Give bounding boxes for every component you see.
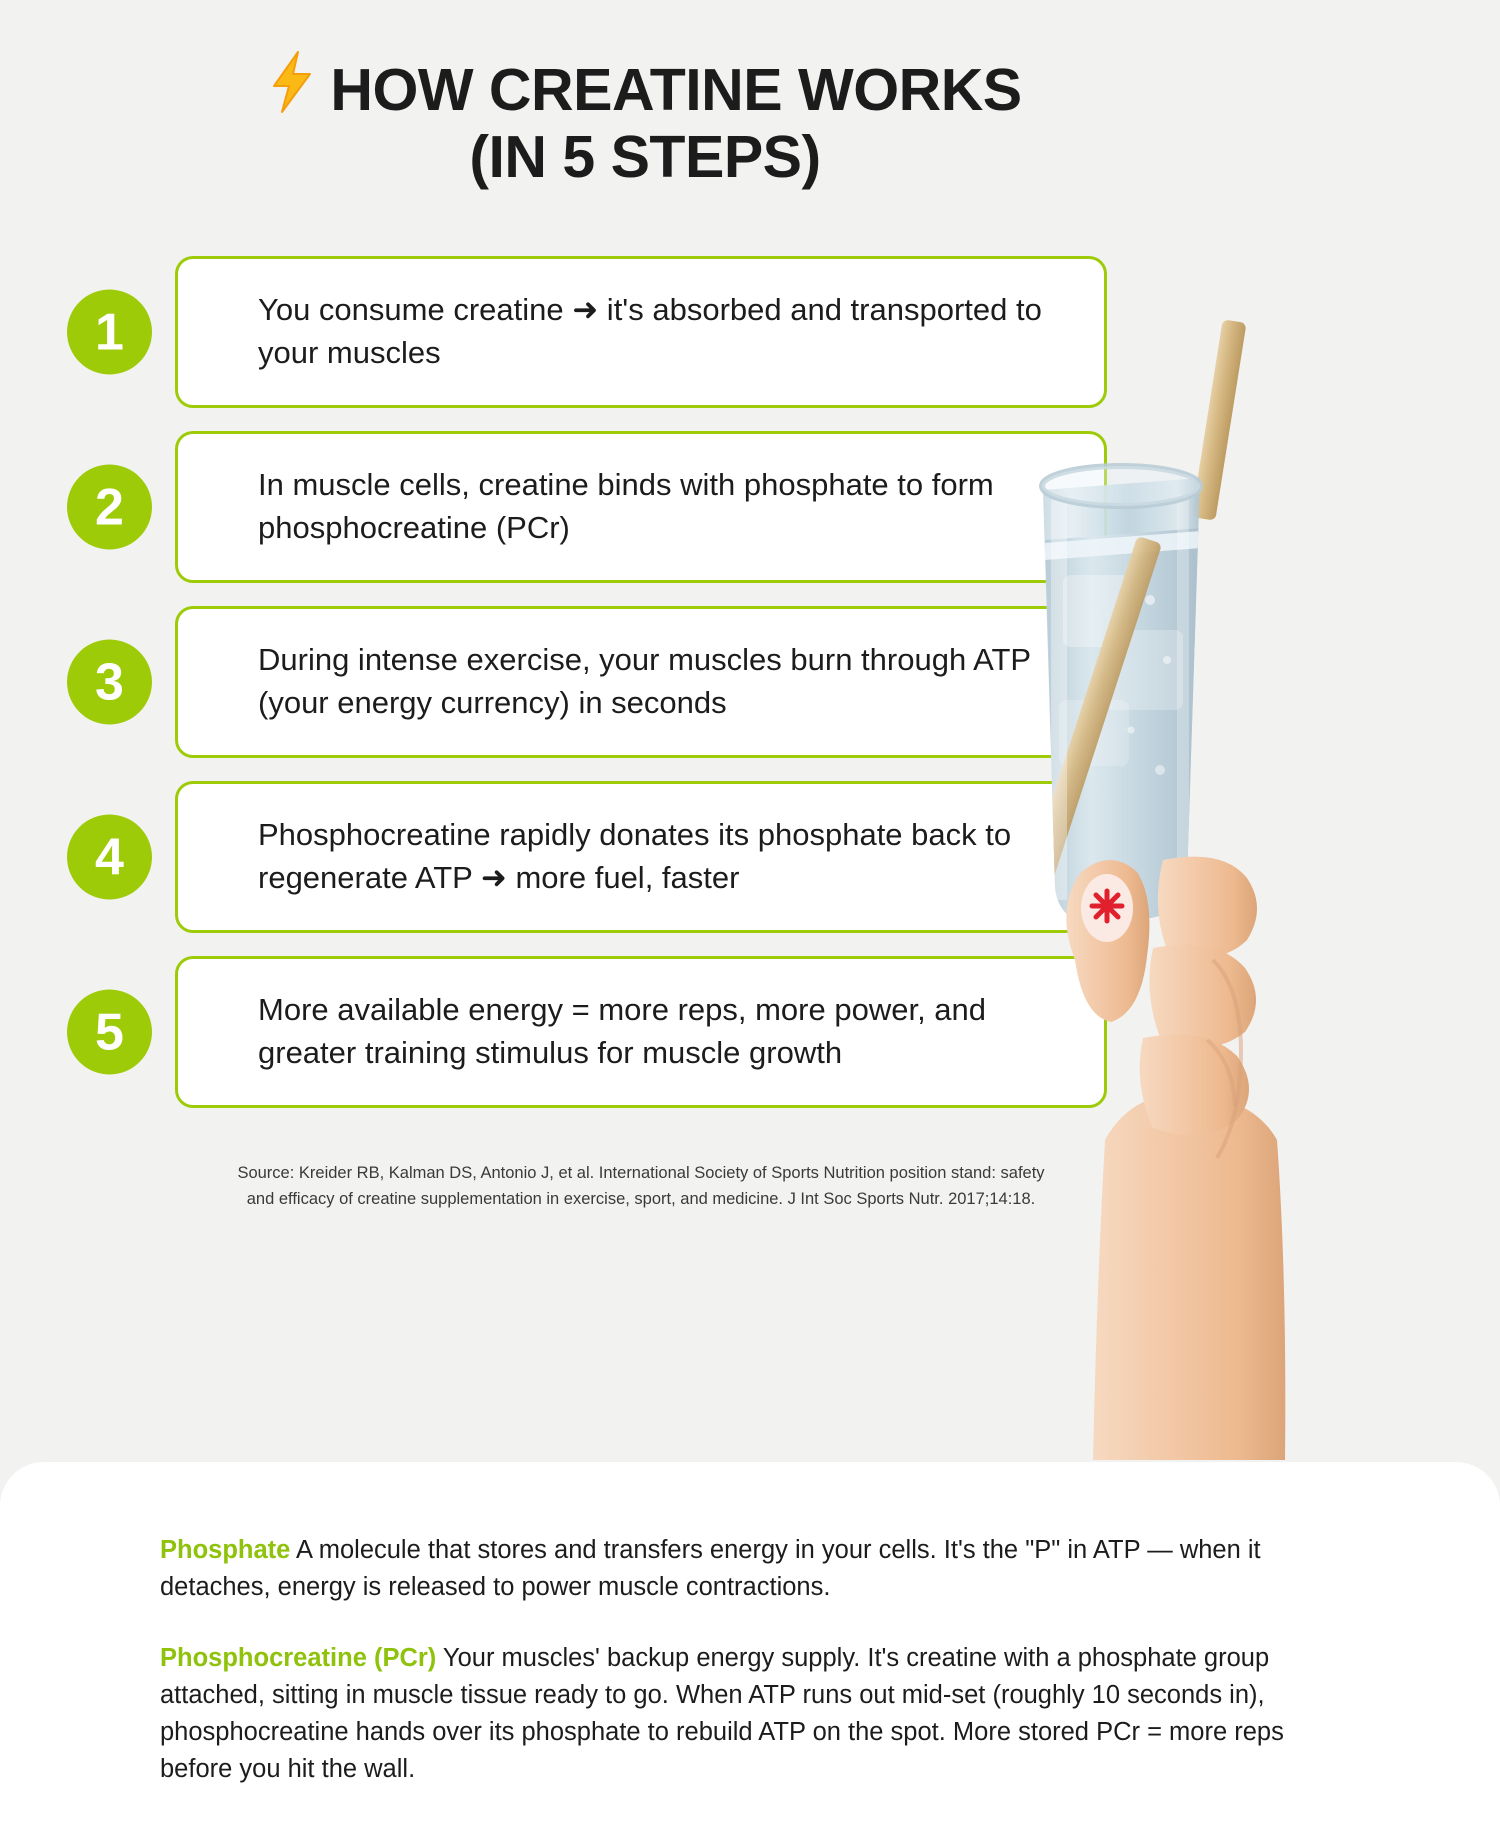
step-text: You consume creatine ➜ it's absorbed and… (178, 289, 1104, 375)
step-number-badge: 1 (67, 290, 152, 375)
source-citation: Source: Kreider RB, Kalman DS, Antonio J… (175, 1161, 1107, 1212)
step-text: During intense exercise, your muscles bu… (178, 639, 1104, 725)
infographic-page: HOW CREATINE WORKS (IN 5 STEPS) 1 You co… (0, 0, 1500, 1828)
step-card: 2 In muscle cells, creatine binds with p… (175, 431, 1107, 583)
step-number-badge: 2 (67, 465, 152, 550)
step-text: In muscle cells, creatine binds with pho… (178, 464, 1104, 550)
glossary-entry: Phosphocreatine (PCr) Your muscles' back… (160, 1640, 1340, 1788)
glossary-definition: A molecule that stores and transfers ene… (160, 1536, 1261, 1601)
step-card: 5 More available energy = more reps, mor… (175, 956, 1107, 1108)
page-title: HOW CREATINE WORKS (IN 5 STEPS) (0, 50, 1290, 188)
step-text: More available energy = more reps, more … (178, 989, 1104, 1075)
source-line-1: Source: Kreider RB, Kalman DS, Antonio J… (175, 1161, 1107, 1187)
source-line-2: and efficacy of creatine supplementation… (175, 1187, 1107, 1213)
glossary-panel: Phosphate A molecule that stores and tra… (0, 1462, 1500, 1828)
glossary-entry: Phosphate A molecule that stores and tra… (160, 1532, 1340, 1606)
step-card: 1 You consume creatine ➜ it's absorbed a… (175, 256, 1107, 408)
title-text-2: (IN 5 STEPS) (0, 126, 1290, 189)
glossary-term: Phosphate (160, 1536, 290, 1564)
step-text: Phosphocreatine rapidly donates its phos… (178, 814, 1104, 900)
glossary-term: Phosphocreatine (PCr) (160, 1644, 436, 1672)
title-text-1: HOW CREATINE WORKS (330, 57, 1021, 123)
step-number-badge: 4 (67, 815, 152, 900)
title-line-1: HOW CREATINE WORKS (0, 50, 1290, 126)
step-card: 4 Phosphocreatine rapidly donates its ph… (175, 781, 1107, 933)
steps-list: 1 You consume creatine ➜ it's absorbed a… (175, 256, 1107, 1131)
step-number-badge: 3 (67, 640, 152, 725)
step-card: 3 During intense exercise, your muscles … (175, 606, 1107, 758)
step-number-badge: 5 (67, 990, 152, 1075)
lightning-bolt-icon (268, 50, 316, 126)
